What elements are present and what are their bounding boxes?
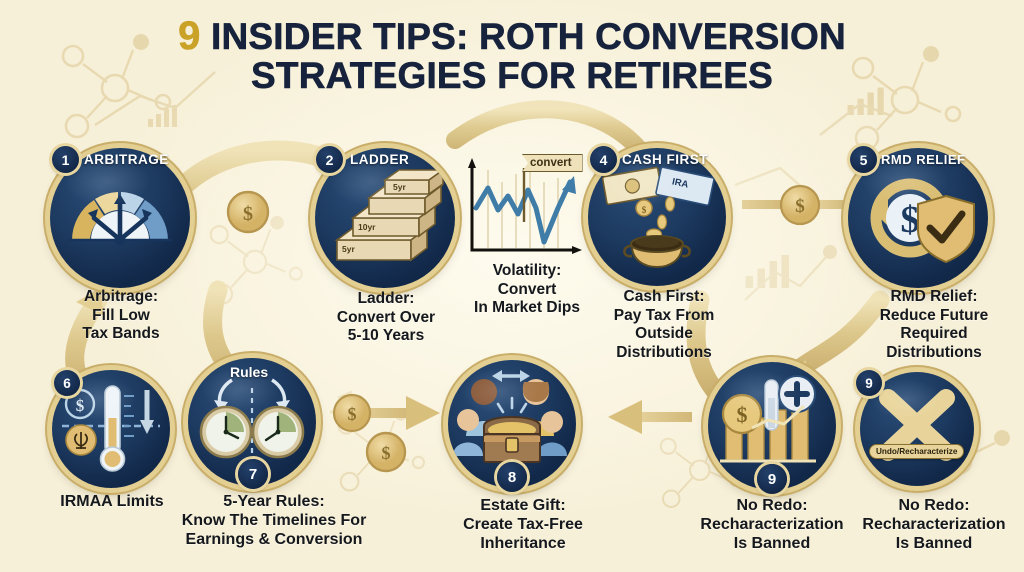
tip-5-badge: 5 [850,146,877,173]
tip-9a-caption: No Redo: Recharacterization Is Banned [672,496,872,554]
tip-7-badge: 7 [238,459,268,489]
tip-4-caption: Cash First: Pay Tax From Outside Distrib… [580,288,748,362]
svg-text:$: $ [737,402,748,427]
tip-2-badge: 2 [316,146,343,173]
title-text-1: INSIDER TIPS: ROTH CONVERSION [211,16,846,57]
tip-4-chip-label: CASH FIRST [622,152,708,167]
title-line-1: 9 INSIDER TIPS: ROTH CONVERSION [0,16,1024,57]
tip-5-caption: RMD Relief: Reduce Future Required Distr… [846,288,1022,362]
tip-2-chip-label: LADDER [350,152,409,167]
tip-9b-pill-label: Undo/Recharacterize [869,444,964,459]
svg-text:$: $ [243,203,253,225]
tip-3-chart[interactable]: convert [458,152,588,272]
tip-1-badge: 1 [52,146,79,173]
tip-7-inner-label: Rules [230,364,268,380]
tip-9a-badge: 9 [757,464,787,494]
tip-1-chip-label: ARBITRAGE [84,152,169,167]
tip-9b-badge: 9 [856,370,882,396]
svg-text:$: $ [901,199,920,241]
tip-3-convert-flag: convert [522,154,583,172]
svg-text:$: $ [348,404,357,424]
tip-4-ira-tag: IRA [671,176,689,190]
title-line-2: STRATEGIES FOR RETIREES [0,57,1024,95]
tip-2-step-label-2: 5yr [393,182,406,192]
tip-4-badge: 4 [590,146,617,173]
svg-text:$: $ [382,443,391,463]
page-title: 9 INSIDER TIPS: ROTH CONVERSION STRATEGI… [0,16,1024,95]
tip-2-step-label-0: 5yr [342,244,355,254]
svg-text:$: $ [76,396,85,415]
tip-2-step-label-1: 10yr [358,222,376,232]
tip-9b-caption: No Redo: Recharacterization Is Banned [846,496,1022,554]
tip-8-badge: 8 [497,462,527,492]
tip-7-caption: 5-Year Rules: Know The Timelines For Ear… [148,492,400,550]
title-number: 9 [178,14,200,58]
svg-text:$: $ [795,196,805,217]
tip-6-badge: 6 [54,370,80,396]
tip-8-caption: Estate Gift: Create Tax-Free Inheritance [432,496,614,554]
tip-1-caption: Arbitrage: Fill Low Tax Bands [28,288,214,344]
tip-5-chip-label: RMD RELIEF [881,152,965,167]
svg-text:$: $ [642,205,647,215]
infographic-canvas: $ $ $ $ 9 INSIDER TIPS: ROTH CO [0,0,1024,572]
